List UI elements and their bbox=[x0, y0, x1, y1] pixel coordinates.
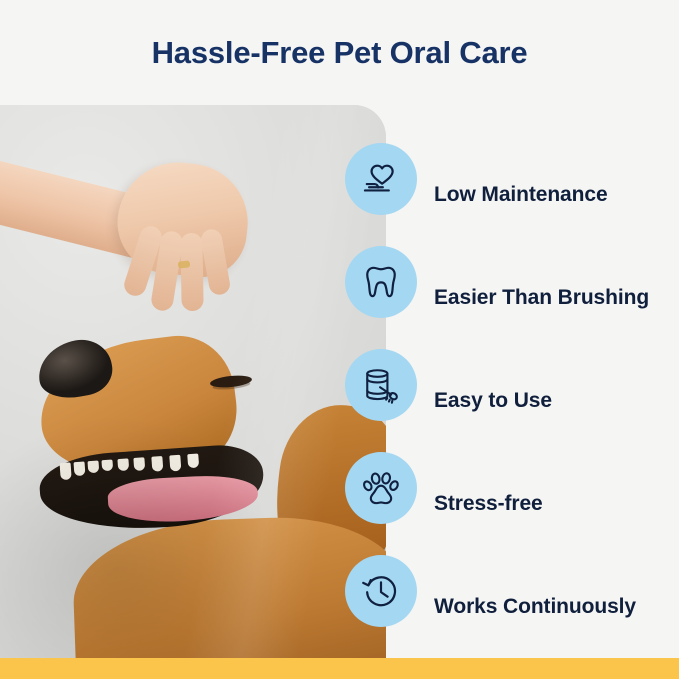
pet-oral-care-infographic: Hassle-Free Pet Oral Care bbox=[0, 0, 679, 679]
feature-icon-badge bbox=[345, 349, 417, 421]
feature-label: Stress-free bbox=[434, 490, 674, 518]
photo-backdrop bbox=[0, 105, 386, 658]
feature-icon-badge bbox=[345, 143, 417, 215]
product-photo bbox=[0, 105, 386, 658]
feature-label: Easy to Use bbox=[434, 387, 674, 415]
feature-icon-badge bbox=[345, 555, 417, 627]
feature-label: Easier Than Brushing bbox=[434, 284, 674, 312]
feature-icon-badge bbox=[345, 452, 417, 524]
feature-item: Easy to Use bbox=[345, 349, 679, 452]
heart-hand-icon bbox=[359, 157, 403, 201]
clock-arrow-icon bbox=[359, 569, 403, 613]
feature-icon-badge bbox=[345, 246, 417, 318]
feature-item: Low Maintenance bbox=[345, 143, 679, 246]
feature-item: Easier Than Brushing bbox=[345, 246, 679, 349]
paw-print-icon bbox=[359, 466, 403, 510]
feature-item: Stress-free bbox=[345, 452, 679, 555]
feature-label: Low Maintenance bbox=[434, 181, 674, 209]
feature-item: Works Continuously bbox=[345, 555, 679, 658]
feature-label: Works Continuously bbox=[434, 593, 674, 621]
bottom-accent-bar bbox=[0, 658, 679, 679]
page-title: Hassle-Free Pet Oral Care bbox=[0, 36, 679, 70]
finger bbox=[180, 233, 203, 311]
jar-scoop-icon bbox=[359, 363, 403, 407]
ring bbox=[178, 260, 191, 268]
tooth-icon bbox=[359, 260, 403, 304]
feature-list: Low Maintenance Easier Than Brushing bbox=[345, 143, 679, 658]
